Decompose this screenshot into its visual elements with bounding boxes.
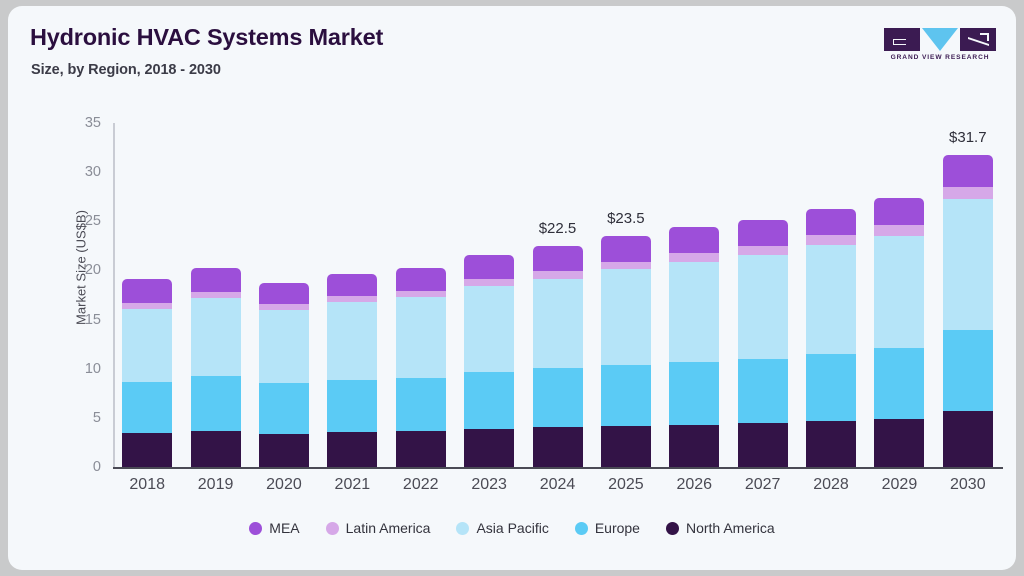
bar-column[interactable] [191, 123, 241, 467]
bar-segment-north-america[interactable] [533, 427, 583, 467]
bar-segment-asia-pacific[interactable] [601, 269, 651, 364]
stacked-bar[interactable] [464, 255, 514, 467]
chart-legend: MEALatin AmericaAsia PacificEuropeNorth … [8, 520, 1016, 536]
x-axis-tick: 2026 [657, 476, 731, 494]
bar-segment-mea[interactable] [669, 227, 719, 253]
legend-item[interactable]: Latin America [326, 520, 431, 536]
x-axis-tick: 2025 [589, 476, 663, 494]
x-axis-tick: 2018 [110, 476, 184, 494]
stacked-bar[interactable] [669, 227, 719, 467]
bar-segment-europe[interactable] [327, 380, 377, 432]
x-axis-tick: 2027 [726, 476, 800, 494]
y-axis-tick: 0 [61, 459, 101, 475]
chart-card: Hydronic HVAC Systems Market Size, by Re… [8, 6, 1016, 570]
bar-segment-asia-pacific[interactable] [327, 302, 377, 380]
bar-segment-europe[interactable] [396, 378, 446, 431]
bar-segment-latin-america[interactable] [806, 235, 856, 245]
bar-segment-asia-pacific[interactable] [738, 255, 788, 359]
stacked-bar[interactable] [533, 246, 583, 467]
legend-item[interactable]: Europe [575, 520, 640, 536]
legend-swatch-icon [326, 522, 339, 535]
bar-segment-north-america[interactable] [738, 423, 788, 467]
bar-segment-north-america[interactable] [874, 419, 924, 467]
bar-segment-north-america[interactable] [943, 411, 993, 467]
bar-segment-asia-pacific[interactable] [396, 297, 446, 378]
bar-column[interactable] [464, 123, 514, 467]
bar-segment-latin-america[interactable] [396, 291, 446, 297]
bar-segment-north-america[interactable] [669, 425, 719, 467]
logo-r-icon [960, 28, 996, 51]
stacked-bar[interactable] [191, 267, 241, 467]
legend-label: Europe [595, 520, 640, 536]
stacked-bar[interactable] [327, 274, 377, 467]
bar-segment-europe[interactable] [464, 372, 514, 429]
bar-column[interactable] [396, 123, 446, 467]
bar-segment-europe[interactable] [874, 348, 924, 419]
bar-segment-mea[interactable] [533, 246, 583, 272]
bar-segment-mea[interactable] [943, 155, 993, 186]
bar-segment-europe[interactable] [669, 362, 719, 425]
legend-item[interactable]: North America [666, 520, 775, 536]
stacked-bar[interactable] [601, 236, 651, 467]
stacked-bar[interactable] [738, 220, 788, 467]
stacked-bar[interactable] [874, 198, 924, 467]
x-axis-line [113, 467, 1003, 469]
legend-label: North America [686, 520, 775, 536]
bar-segment-latin-america[interactable] [464, 279, 514, 286]
x-axis-tick: 2023 [452, 476, 526, 494]
bar-segment-asia-pacific[interactable] [464, 286, 514, 372]
bar-column[interactable] [259, 123, 309, 467]
bar-column[interactable] [874, 123, 924, 467]
bar-segment-asia-pacific[interactable] [874, 236, 924, 348]
bar-segment-mea[interactable] [874, 198, 924, 226]
bar-column[interactable] [669, 123, 719, 467]
grand-view-research-logo: GRAND VIEW RESEARCH [884, 28, 996, 64]
bar-segment-europe[interactable] [943, 330, 993, 411]
bar-segment-latin-america[interactable] [738, 246, 788, 255]
logo-v-icon [922, 28, 958, 51]
x-axis-tick: 2030 [931, 476, 1005, 494]
bar-value-label: $22.5 [521, 220, 595, 237]
bar-segment-mea[interactable] [738, 220, 788, 246]
bar-segment-north-america[interactable] [122, 433, 172, 467]
bar-segment-asia-pacific[interactable] [943, 199, 993, 331]
bar-segment-north-america[interactable] [327, 432, 377, 467]
bar-segment-asia-pacific[interactable] [122, 309, 172, 382]
y-axis-ticks: 05101520253035 [61, 123, 101, 467]
page-subtitle: Size, by Region, 2018 - 2030 [31, 62, 221, 78]
bar-segment-north-america[interactable] [806, 421, 856, 467]
bar-segment-mea[interactable] [601, 236, 651, 262]
legend-swatch-icon [249, 522, 262, 535]
bar-segment-north-america[interactable] [601, 426, 651, 467]
legend-swatch-icon [575, 522, 588, 535]
legend-label: Asia Pacific [476, 520, 548, 536]
logo-wordmark: GRAND VIEW RESEARCH [884, 54, 996, 61]
plot-area: $22.5$23.5$31.7 [113, 123, 1002, 467]
legend-label: MEA [269, 520, 299, 536]
bar-segment-europe[interactable] [738, 359, 788, 423]
bar-segment-north-america[interactable] [191, 431, 241, 467]
bar-column[interactable] [122, 123, 172, 467]
bar-segment-mea[interactable] [259, 283, 309, 304]
y-axis-tick: 5 [61, 410, 101, 426]
bar-segment-asia-pacific[interactable] [191, 298, 241, 376]
bar-segment-north-america[interactable] [396, 431, 446, 467]
bar-segment-latin-america[interactable] [601, 262, 651, 270]
bar-segment-asia-pacific[interactable] [533, 279, 583, 367]
bar-segment-europe[interactable] [191, 376, 241, 431]
bar-column[interactable] [738, 123, 788, 467]
bar-segment-europe[interactable] [533, 368, 583, 427]
x-axis-tick: 2019 [179, 476, 253, 494]
bar-segment-latin-america[interactable] [943, 187, 993, 199]
legend-swatch-icon [456, 522, 469, 535]
x-axis-tick: 2024 [521, 476, 595, 494]
logo-g-icon [884, 28, 920, 51]
y-axis-tick: 15 [61, 312, 101, 328]
page-title: Hydronic HVAC Systems Market [30, 24, 383, 51]
bar-segment-mea[interactable] [464, 255, 514, 280]
y-axis-tick: 25 [61, 213, 101, 229]
bar-value-label: $31.7 [931, 129, 1005, 146]
x-axis-tick: 2021 [315, 476, 389, 494]
bar-column[interactable]: $23.5 [601, 123, 651, 467]
bar-segment-mea[interactable] [327, 274, 377, 296]
bar-column[interactable] [806, 123, 856, 467]
bar-segment-north-america[interactable] [464, 429, 514, 467]
y-axis-tick: 20 [61, 262, 101, 278]
bar-segment-europe[interactable] [122, 382, 172, 433]
x-axis-tick: 2029 [862, 476, 936, 494]
bar-segment-asia-pacific[interactable] [806, 245, 856, 354]
bar-segment-asia-pacific[interactable] [669, 262, 719, 362]
bar-segment-latin-america[interactable] [122, 303, 172, 309]
x-axis-tick: 2020 [247, 476, 321, 494]
bar-segment-europe[interactable] [601, 365, 651, 426]
logo-marks [884, 28, 996, 51]
stacked-bar[interactable] [943, 155, 993, 467]
y-axis-tick: 30 [61, 164, 101, 180]
bar-segment-latin-america[interactable] [327, 296, 377, 302]
bar-segment-north-america[interactable] [259, 434, 309, 467]
legend-label: Latin America [346, 520, 431, 536]
legend-item[interactable]: Asia Pacific [456, 520, 548, 536]
bar-segment-mea[interactable] [122, 279, 172, 303]
bar-segment-europe[interactable] [806, 354, 856, 421]
legend-item[interactable]: MEA [249, 520, 299, 536]
bar-segment-latin-america[interactable] [533, 271, 583, 279]
bar-segment-mea[interactable] [806, 209, 856, 236]
bar-segment-mea[interactable] [191, 268, 241, 293]
bar-column[interactable]: $31.7 [943, 123, 993, 467]
x-axis-tick: 2028 [794, 476, 868, 494]
bar-segment-mea[interactable] [396, 268, 446, 291]
stacked-bar[interactable] [259, 283, 309, 467]
stacked-bar[interactable] [122, 279, 172, 467]
bar-column[interactable] [327, 123, 377, 467]
bar-segment-asia-pacific[interactable] [259, 310, 309, 384]
bar-segment-europe[interactable] [259, 383, 309, 433]
bar-value-label: $23.5 [589, 210, 663, 227]
bar-segment-latin-america[interactable] [669, 253, 719, 262]
bar-segment-latin-america[interactable] [259, 304, 309, 310]
bar-segment-latin-america[interactable] [191, 292, 241, 298]
y-axis-tick: 35 [61, 115, 101, 131]
stacked-bar[interactable] [396, 268, 446, 467]
stacked-bar[interactable] [806, 209, 856, 467]
bar-segment-latin-america[interactable] [874, 225, 924, 236]
legend-swatch-icon [666, 522, 679, 535]
y-axis-tick: 10 [61, 361, 101, 377]
x-axis-tick: 2022 [384, 476, 458, 494]
bar-column[interactable]: $22.5 [533, 123, 583, 467]
